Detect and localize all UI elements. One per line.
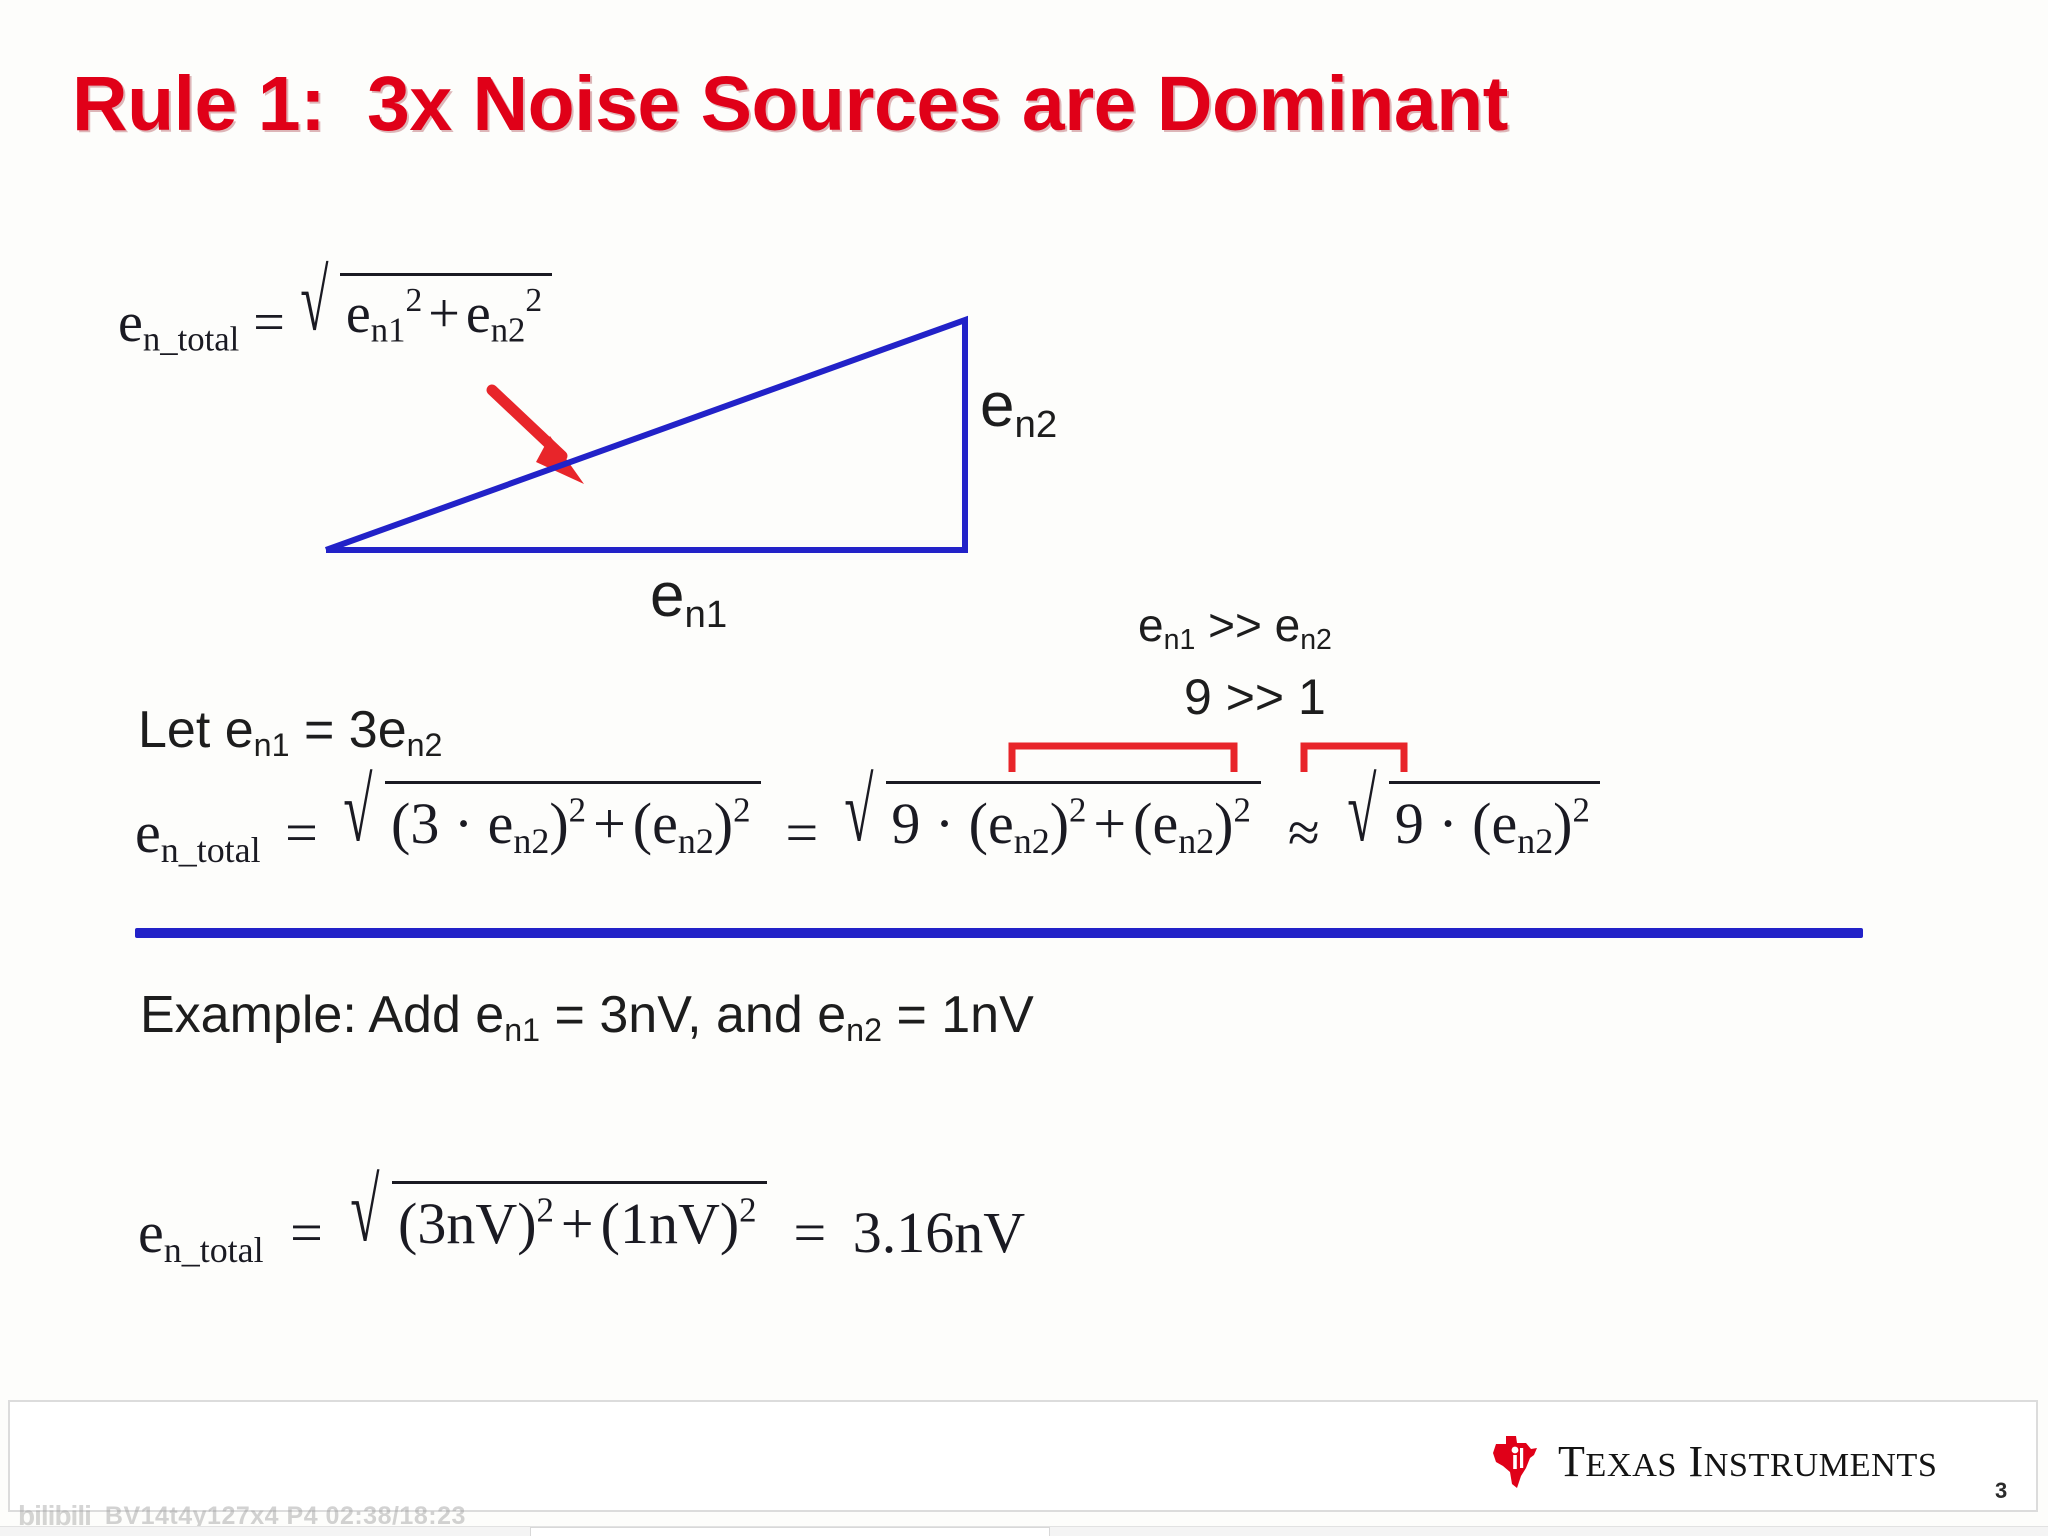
triangle-label-en2-sub: n2 xyxy=(1014,403,1057,446)
final-equation: en_total = √ (3nV)2+(1nV)2 = 3.16nV xyxy=(138,1190,1025,1271)
comparison-line-numbers: 9 >> 1 xyxy=(1184,668,1326,726)
triangle-label-en1-sub: n1 xyxy=(684,593,727,636)
formula-top-equals: = xyxy=(253,292,285,354)
final-equals-2: = xyxy=(782,1200,839,1265)
derivation-equals-2: = xyxy=(775,800,828,865)
ti-word-i: I xyxy=(1689,1437,1704,1486)
let-line-equals: = 3e xyxy=(290,701,407,759)
page-title: Rule 1: 3x Noise Sources are Dominant xyxy=(72,60,1508,149)
derivation-radicand-1: (3 · en2)2+(en2)2 xyxy=(385,781,761,862)
derivation-term2a-sub: n2 xyxy=(1014,821,1050,861)
radical-icon: √ xyxy=(844,758,873,862)
derivation-term1b-sup: 2 xyxy=(733,790,750,829)
final-lhs-sub: n_total xyxy=(164,1230,264,1270)
triangle-label-en2: en2 xyxy=(980,370,1057,447)
derivation-term2a-sup: 2 xyxy=(1069,790,1086,829)
player-bar-segment xyxy=(530,1527,1050,1536)
right-triangle-diagram xyxy=(300,300,1000,560)
derivation-radicand-2: 9 · (en2)2+(en2)2 xyxy=(886,781,1262,862)
derivation-lhs-base: e xyxy=(135,800,161,865)
let-line: Let en1 = 3en2 xyxy=(138,700,442,764)
section-divider xyxy=(135,928,1863,938)
final-lhs-base: e xyxy=(138,1200,164,1265)
derivation-term3-sub: n2 xyxy=(1517,821,1553,861)
derivation-term1a-close: ) xyxy=(549,791,568,856)
final-term-b: (1nV) xyxy=(601,1191,740,1256)
derivation-approx-sign: ≈ xyxy=(1276,800,1332,865)
derivation-sqrt-2: √ 9 · (en2)2+(en2)2 xyxy=(843,790,1262,871)
final-term-a: (3nV) xyxy=(398,1191,537,1256)
final-result-value: 3.16nV xyxy=(853,1200,1025,1265)
derivation-term2a-close: ) xyxy=(1050,791,1069,856)
derivation-term1a-sub: n2 xyxy=(513,821,549,861)
comparison-operator: >> xyxy=(1195,599,1274,651)
radical-icon: √ xyxy=(344,758,373,862)
derivation-plus-2: + xyxy=(1086,791,1133,856)
example-text-c: = 1nV xyxy=(882,986,1034,1044)
radical-icon: √ xyxy=(351,1158,380,1262)
derivation-radicand-3: 9 · (en2)2 xyxy=(1389,781,1600,862)
final-sqrt: √ (3nV)2+(1nV)2 xyxy=(349,1190,767,1266)
example-text-a-sub: n1 xyxy=(504,1012,540,1048)
final-term-b-sup: 2 xyxy=(739,1190,756,1229)
comparison-en1-sub: n1 xyxy=(1164,624,1196,656)
triangle-label-en1: en1 xyxy=(650,560,727,637)
derivation-term3: 9 · (e xyxy=(1395,791,1517,856)
final-equals-1: = xyxy=(278,1200,335,1265)
texas-instruments-logo: TEXAS INSTRUMENTS xyxy=(1490,1432,1937,1490)
derivation-term2a: 9 · (e xyxy=(891,791,1013,856)
formula-top-lhs: en_total xyxy=(118,292,239,354)
player-bottom-bar xyxy=(0,1526,2048,1536)
derivation-term1b-close: ) xyxy=(714,791,733,856)
example-text-b-sub: n2 xyxy=(846,1012,882,1048)
example-text-a: Example: Add e xyxy=(140,986,504,1044)
derivation-term1a-sup: 2 xyxy=(569,790,586,829)
derivation-equals-1: = xyxy=(275,800,328,865)
derivation-term3-close: ) xyxy=(1553,791,1572,856)
slide-canvas: Rule 1: 3x Noise Sources are Dominant en… xyxy=(0,0,2048,1536)
derivation-term2b-close: ) xyxy=(1214,791,1233,856)
comparison-en2-sub: n2 xyxy=(1300,624,1332,656)
derivation-term2b-sub: n2 xyxy=(1178,821,1214,861)
formula-top-lhs-base: e xyxy=(118,292,143,354)
derivation-sqrt-3: √ 9 · (en2)2 xyxy=(1346,790,1600,871)
derivation-term1b: (e xyxy=(633,791,678,856)
ti-word-t: T xyxy=(1558,1437,1585,1486)
derivation-term1a: (3 · e xyxy=(391,791,513,856)
final-term-a-sup: 2 xyxy=(537,1190,554,1229)
derivation-lhs-sub: n_total xyxy=(161,830,261,870)
final-lhs: en_total xyxy=(138,1200,264,1265)
derivation-plus-1: + xyxy=(586,791,633,856)
final-radicand: (3nV)2+(1nV)2 xyxy=(392,1181,767,1257)
red-brace-left-icon xyxy=(1008,740,1238,774)
radical-icon: √ xyxy=(1347,758,1376,862)
final-plus: + xyxy=(554,1191,601,1256)
comparison-en2: e xyxy=(1275,599,1301,651)
example-text-b: = 3nV, and e xyxy=(540,986,846,1044)
example-line: Example: Add en1 = 3nV, and en2 = 1nV xyxy=(140,985,1034,1049)
let-line-equals-sub: n2 xyxy=(407,727,443,763)
derivation-term2b: (e xyxy=(1133,791,1178,856)
triangle-label-en2-base: e xyxy=(980,371,1014,440)
ti-wordmark-text: TEXAS INSTRUMENTS xyxy=(1558,1436,1937,1487)
derivation-term1b-sub: n2 xyxy=(678,821,714,861)
derivation-sqrt-1: √ (3 · en2)2+(en2)2 xyxy=(342,790,761,871)
let-line-prefix-sub: n1 xyxy=(254,727,290,763)
formula-top-lhs-sub: n_total xyxy=(143,319,239,358)
derivation-lhs: en_total xyxy=(135,800,261,865)
ti-word-nstruments: NSTRUMENTS xyxy=(1704,1446,1938,1484)
derivation-line: en_total = √ (3 · en2)2+(en2)2 = √ 9 · (… xyxy=(135,790,1600,871)
comparison-en1: e xyxy=(1138,599,1164,651)
derivation-term3-sup: 2 xyxy=(1573,790,1590,829)
ti-word-exas: EXAS xyxy=(1585,1446,1677,1484)
let-line-prefix: Let e xyxy=(138,701,254,759)
ti-texas-map-icon xyxy=(1490,1432,1542,1490)
triangle-label-en1-base: e xyxy=(650,561,684,630)
derivation-term2b-sup: 2 xyxy=(1233,790,1250,829)
comparison-line-symbols: en1 >> en2 xyxy=(1138,598,1332,657)
